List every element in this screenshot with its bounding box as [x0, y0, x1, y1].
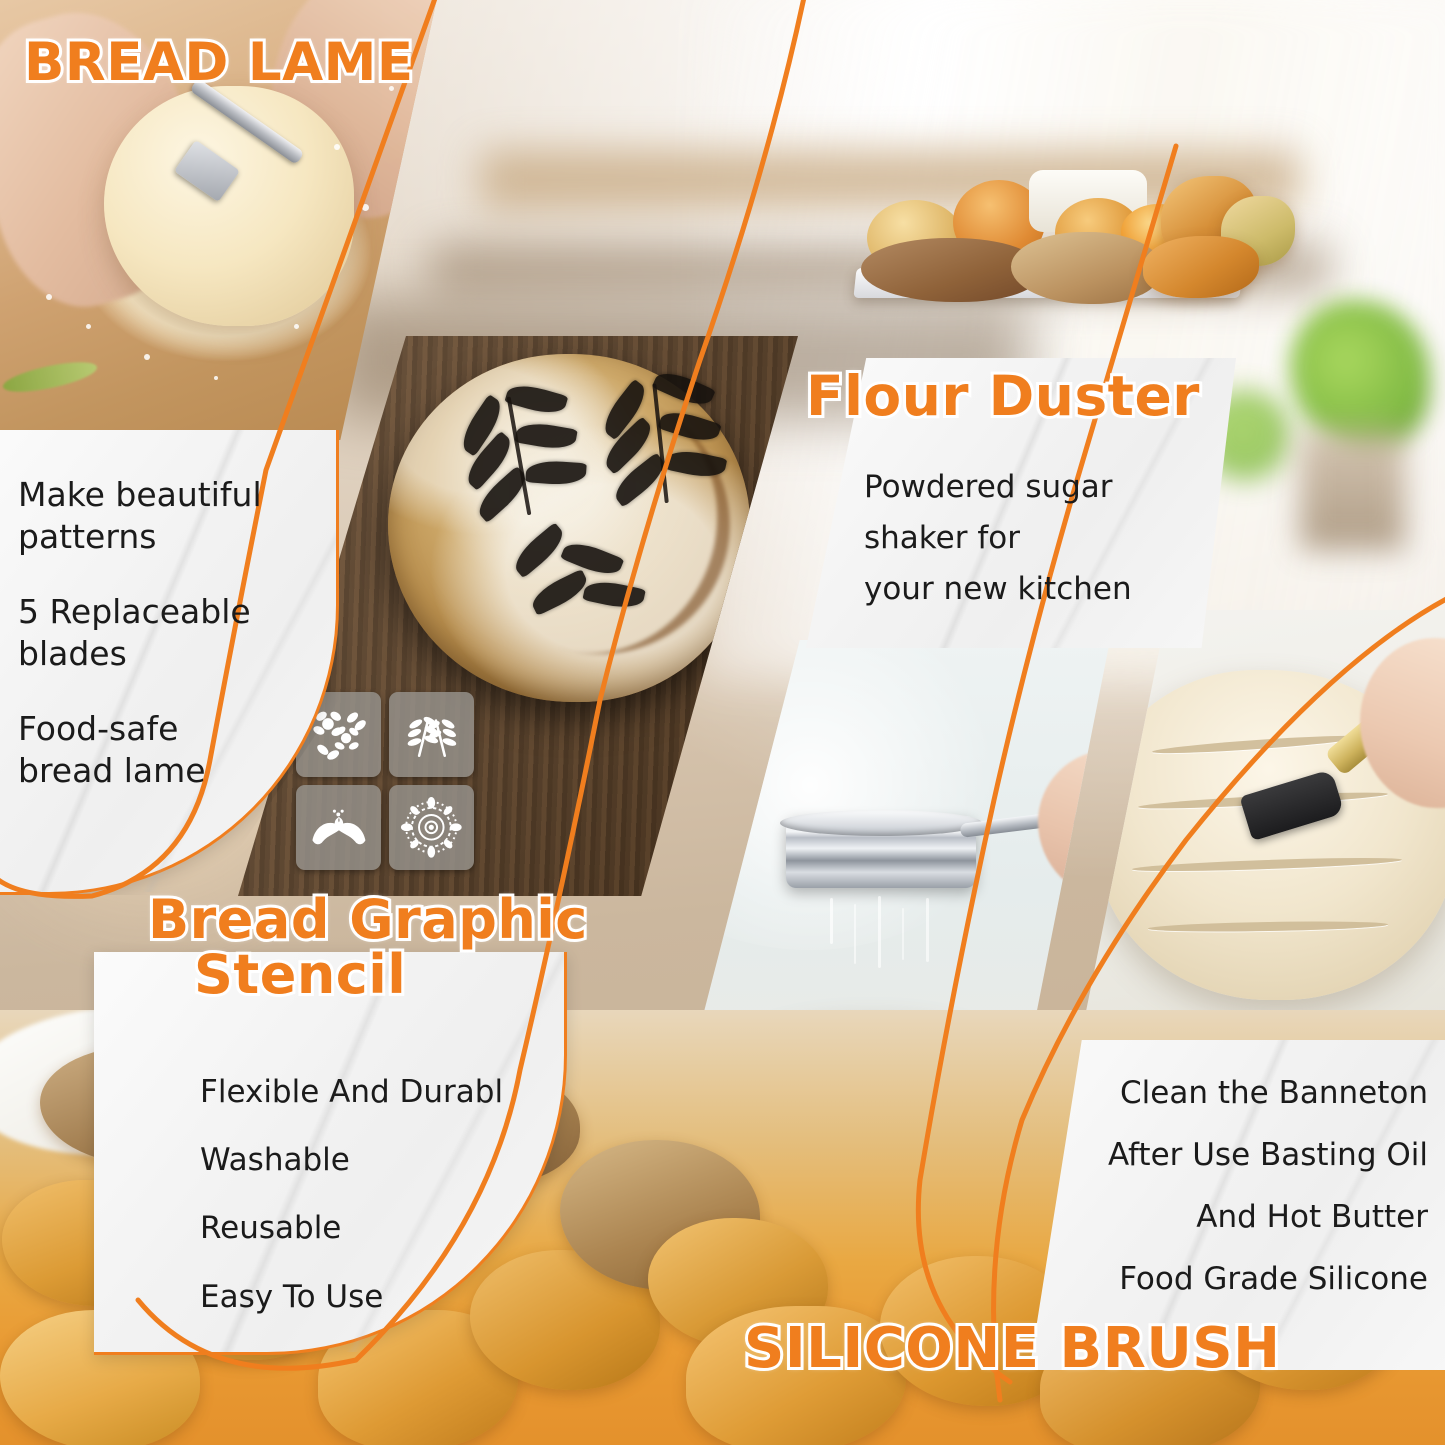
- dough-ball: [104, 86, 354, 326]
- stencil-bullet-3: Reusable: [200, 1194, 503, 1262]
- bread-lame-title: BREAD LAME: [24, 36, 414, 90]
- lame-bullet-3a: Food-safe: [18, 708, 262, 750]
- stencil-title: Bread Graphic Stencil: [148, 892, 588, 1002]
- sourdough-loaf: [388, 354, 750, 702]
- duster-bullet-3: your new kitchen: [864, 564, 1132, 615]
- background-pot: [1300, 430, 1405, 550]
- stencil-bullet-2: Washable: [200, 1126, 503, 1194]
- dove-stencil-swatch: [296, 785, 381, 870]
- stencil-title-line2: Stencil: [194, 947, 588, 1002]
- stencil-bullets: Flexible And Durabl Washable Reusable Ea…: [200, 1058, 503, 1331]
- bread-lame-bullets: Make beautiful patterns 5 Replaceable bl…: [18, 474, 262, 791]
- brush-bullet-2: After Use Basting Oil: [1018, 1124, 1428, 1186]
- lame-bullet-1b: patterns: [18, 516, 262, 558]
- stencil-bullet-1: Flexible And Durabl: [200, 1058, 503, 1126]
- brush-bullet-4: Food Grade Silicone: [1018, 1248, 1428, 1310]
- stencil-bullet-4: Easy To Use: [200, 1263, 503, 1331]
- wheat-leaf-stencil-swatch: [389, 692, 474, 777]
- stencil-title-line1: Bread Graphic: [148, 892, 588, 947]
- silicone-brush-bullets: Clean the Banneton After Use Basting Oil…: [1018, 1062, 1428, 1310]
- flour-sifter-rim: [780, 810, 982, 836]
- lame-bullet-1a: Make beautiful: [18, 474, 262, 516]
- lame-bullet-2a: 5 Replaceable: [18, 591, 262, 633]
- duster-bullet-1: Powdered sugar: [864, 462, 1132, 513]
- flour-duster-bullets: Powdered sugar shaker for your new kitch…: [864, 462, 1132, 615]
- stencil-swatch-grid: [296, 692, 474, 870]
- brush-bullet-3: And Hot Butter: [1018, 1186, 1428, 1248]
- mandala-stencil-swatch: [389, 785, 474, 870]
- lame-bullet-3b: bread lame: [18, 750, 262, 792]
- brush-bullet-1: Clean the Banneton: [1018, 1062, 1428, 1124]
- silicone-brush-title: SILICONE BRUSH: [744, 1320, 1280, 1377]
- bread-platter-photo: [843, 158, 1247, 318]
- infographic-canvas: BREAD LAME Make beautiful patterns 5 Rep…: [0, 0, 1445, 1445]
- duster-bullet-2: shaker for: [864, 513, 1132, 564]
- lame-bullet-2b: blades: [18, 633, 262, 675]
- flour-duster-title: Flour Duster: [806, 368, 1200, 424]
